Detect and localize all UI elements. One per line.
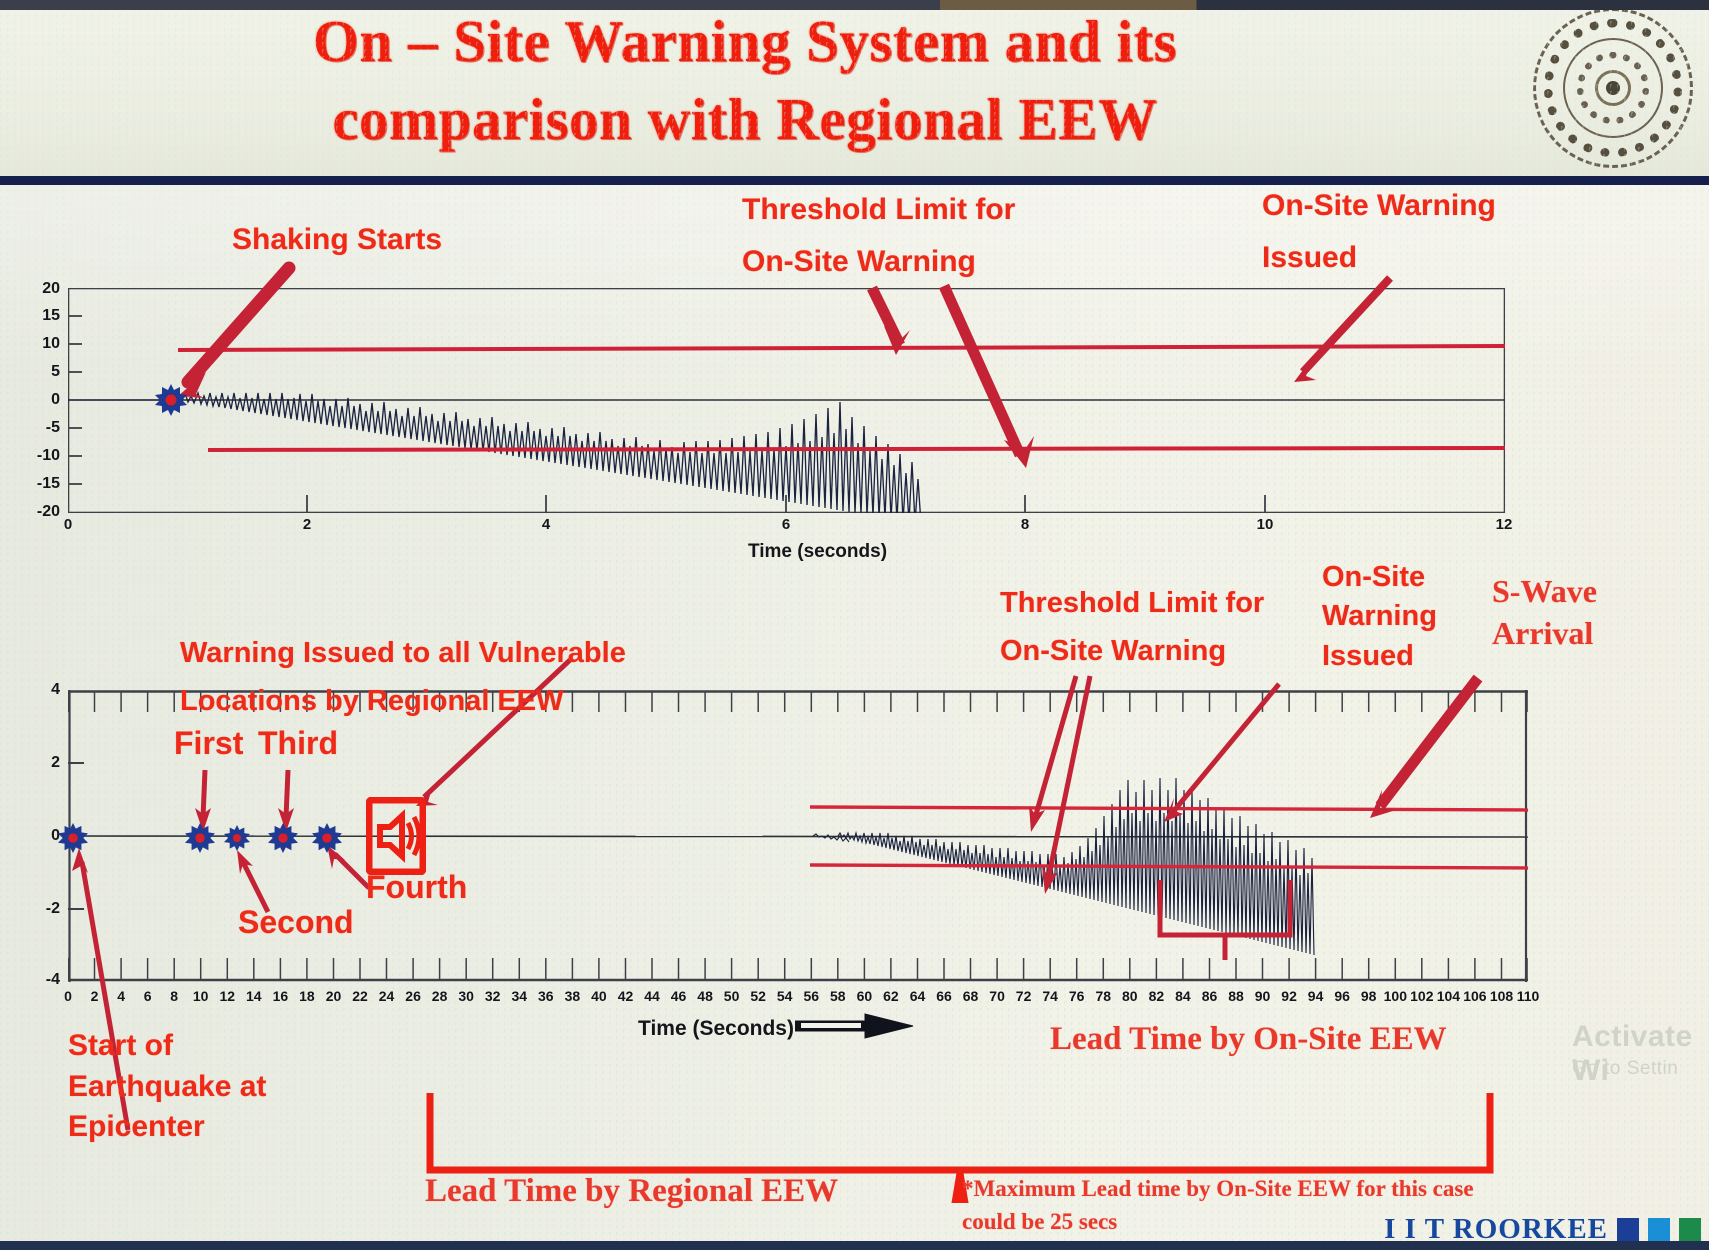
chart2-xtick: 28 (432, 988, 448, 1004)
chart2-xtick: 12 (220, 988, 236, 1004)
chart1-threshold-upper (178, 346, 1505, 350)
chart2-xtick: 70 (989, 988, 1005, 1004)
slide-header: On – Site Warning System and its compari… (0, 0, 1709, 185)
chart2-xtick: 76 (1069, 988, 1085, 1004)
chart2-xtick: 84 (1175, 988, 1191, 1004)
chart-on-site-record: 20 15 10 5 0 -5 -10 -15 -20 0 2 4 6 8 10… (68, 288, 1505, 513)
chart1-ytick: 5 (20, 363, 60, 381)
chart2-xtick: 48 (697, 988, 713, 1004)
chart1-xtick: 2 (303, 516, 311, 533)
annotation-swave-arrival: S-Wave Arrival (1492, 570, 1597, 654)
chart2-xtick: 10 (193, 988, 209, 1004)
chart2-xtick: 34 (512, 988, 528, 1004)
chart2-xtick: 6 (144, 988, 152, 1004)
time-direction-arrow-icon (795, 1012, 915, 1040)
chart1-ytick: 0 (20, 391, 60, 409)
chart2-xtick: 26 (405, 988, 421, 1004)
brand-swatch-3 (1679, 1218, 1701, 1242)
chart2-xtick: 66 (936, 988, 952, 1004)
brand-swatch-2 (1648, 1218, 1670, 1242)
annotation-line: Locations by Regional EEW (180, 684, 626, 719)
annotation-line: Start of (68, 1026, 266, 1067)
chart1-xtick: 4 (542, 516, 550, 533)
activate-windows-sub: Go to Settin (1572, 1058, 1678, 1080)
chart2-xtick: 104 (1437, 988, 1460, 1004)
annotation-line: Epicenter (68, 1107, 266, 1148)
chart2-xtick: 42 (618, 988, 634, 1004)
chart1-ytick: 10 (20, 335, 60, 353)
chart2-xtick: 108 (1490, 988, 1513, 1004)
chart2-xtick: 90 (1255, 988, 1271, 1004)
chart2-xtick: 58 (830, 988, 846, 1004)
chart2-xaxis-label: Time (Seconds) (638, 1017, 794, 1041)
annotation-shaking-starts: Shaking Starts (232, 222, 442, 258)
chart2-xtick: 50 (724, 988, 740, 1004)
third-station-star (268, 823, 294, 849)
annotation-line: *Maximum Lead time by On-Site EEW for th… (962, 1172, 1474, 1205)
chart2-xtick: 32 (485, 988, 501, 1004)
lead-time-regional-bracket (430, 1093, 1490, 1170)
annotation-line: On-Site Warning (1262, 188, 1496, 224)
shaking-start-star (158, 387, 184, 413)
chart2-xtick: 68 (963, 988, 979, 1004)
chart2-xtick: 4 (117, 988, 125, 1004)
chart2-xtick: 40 (591, 988, 607, 1004)
chart2-xtick: 22 (352, 988, 368, 1004)
chart1-ytick: -10 (20, 447, 60, 465)
annotation-line: S-Wave (1492, 570, 1597, 612)
slide-root: On – Site Warning System and its compari… (0, 0, 1709, 1250)
chart2-xtick: 2 (91, 988, 99, 1004)
chart1-svg (68, 288, 1505, 513)
annotation-line: Warning (1322, 597, 1437, 636)
chart2-xtick: 16 (273, 988, 289, 1004)
title-line-2: comparison with Regional EEW (150, 80, 1340, 158)
annotation-line: Arrival (1492, 612, 1597, 654)
fourth-station-star (312, 823, 338, 849)
chart1-ytick: -5 (20, 419, 60, 437)
annotation-line: Earthquake at (68, 1067, 266, 1108)
chart2-xtick: 96 (1334, 988, 1350, 1004)
first-station-star (185, 823, 211, 849)
chart2-xtick: 80 (1122, 988, 1138, 1004)
annotation-line: On-Site Warning (1000, 634, 1264, 669)
chart2-xtick: 94 (1308, 988, 1324, 1004)
annotation-line: Issued (1322, 637, 1437, 676)
chart2-ytick: -2 (22, 900, 60, 918)
chart2-ytick: 0 (22, 827, 60, 845)
annotation-lead-time-onsite: Lead Time by On-Site EEW (1050, 1020, 1447, 1060)
chart2-xtick: 44 (644, 988, 660, 1004)
annotation-line: On-Site (1322, 558, 1437, 597)
chart2-xtick: 86 (1202, 988, 1218, 1004)
chart2-xtick: 24 (379, 988, 395, 1004)
page-title: On – Site Warning System and its compari… (150, 2, 1340, 159)
chart1-ytick: 20 (20, 280, 60, 298)
epicenter-star (58, 823, 84, 849)
chart2-xtick: 106 (1463, 988, 1486, 1004)
annotation-third: Third (258, 724, 338, 762)
chart2-threshold-lower (810, 865, 1528, 868)
chart1-threshold-lower (208, 448, 1505, 450)
annotation-lead-time-regional: Lead Time by Regional EEW (425, 1172, 838, 1212)
annotation-line: On-Site Warning (742, 244, 1015, 280)
chart2-xtick: 64 (910, 988, 926, 1004)
chart1-waveform (68, 393, 921, 513)
annotation-second: Second (238, 903, 354, 941)
chart1-xtick: 12 (1496, 516, 1513, 533)
chart1-ytick: -20 (20, 503, 60, 521)
chart2-xtick: 54 (777, 988, 793, 1004)
chart1-xtick: 6 (782, 516, 790, 533)
chart2-ytick: -4 (22, 971, 60, 989)
chart2-xtick: 100 (1384, 988, 1407, 1004)
chart1-xtick: 10 (1257, 516, 1274, 533)
broadcast-warning-icon (366, 797, 426, 875)
chart1-xtick: 8 (1021, 516, 1029, 533)
chart2-xtick: 52 (750, 988, 766, 1004)
chart2-xtick: 82 (1149, 988, 1165, 1004)
chart1-xtick: 0 (64, 516, 72, 533)
annotation-regional-warning: Warning Issued to all Vulnerable Locatio… (180, 636, 626, 719)
chart2-xtick: 72 (1016, 988, 1032, 1004)
annotation-start-of-earthquake: Start of Earthquake at Epicenter (68, 1026, 266, 1148)
annotation-line: Issued (1262, 240, 1496, 276)
annotation-chart1-warning-issued: On-Site Warning Issued (1262, 188, 1496, 276)
chart2-xtick: 8 (170, 988, 178, 1004)
chart2-xtick: 38 (565, 988, 581, 1004)
chart2-xtick: 88 (1228, 988, 1244, 1004)
chart2-ytick: 2 (22, 754, 60, 772)
chart2-xtick: 74 (1042, 988, 1058, 1004)
screen-top-edge (0, 0, 1709, 10)
chart2-xtick: 60 (857, 988, 873, 1004)
chart2-xtick: 56 (804, 988, 820, 1004)
annotation-fourth: Fourth (366, 868, 467, 906)
chart2-xtick: 0 (64, 988, 72, 1004)
annotation-first: First (174, 724, 243, 762)
annotation-line: Threshold Limit for (1000, 586, 1264, 621)
annotation-line: Threshold Limit for (742, 192, 1015, 228)
chart2-xtick: 62 (883, 988, 899, 1004)
chart2-threshold-upper (810, 807, 1528, 810)
chart2-xtick: 18 (299, 988, 315, 1004)
chart1-ytick: 15 (20, 307, 60, 325)
chart2-xtick: 30 (458, 988, 474, 1004)
chart2-xtick: 14 (246, 988, 262, 1004)
annotation-chart2-threshold: Threshold Limit for On-Site Warning (1000, 586, 1264, 669)
second-station-star (224, 825, 250, 851)
chart2-xtick: 20 (326, 988, 342, 1004)
iit-roorkee-logo-icon (1533, 8, 1693, 168)
chart2-ytick: 4 (22, 681, 60, 699)
chart2-xtick: 102 (1410, 988, 1433, 1004)
chart2-xtick: 92 (1281, 988, 1297, 1004)
chart2-xtick: 36 (538, 988, 554, 1004)
brand-swatch-1 (1617, 1218, 1639, 1242)
chart2-xtick: 78 (1096, 988, 1112, 1004)
chart2-xtick: 46 (671, 988, 687, 1004)
chart2-xtick: 110 (1517, 988, 1540, 1004)
annotation-chart2-warning-issued: On-Site Warning Issued (1322, 558, 1437, 676)
chart2-xtick: 98 (1361, 988, 1377, 1004)
slide-bottom-band (0, 1241, 1709, 1250)
annotation-chart1-threshold: Threshold Limit for On-Site Warning (742, 192, 1015, 280)
title-line-1: On – Site Warning System and its (150, 2, 1340, 80)
chart1-ytick: -15 (20, 475, 60, 493)
chart1-xaxis-label: Time (seconds) (748, 541, 887, 563)
annotation-line: Warning Issued to all Vulnerable (180, 636, 626, 671)
